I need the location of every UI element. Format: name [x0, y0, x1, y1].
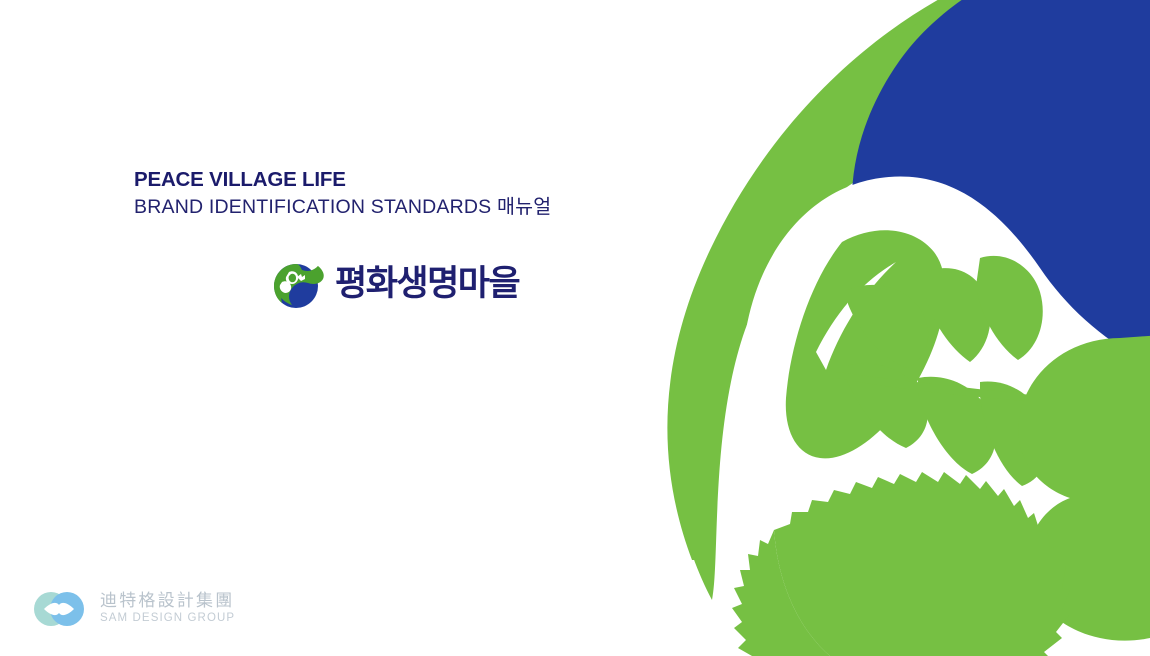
brand-wordmark: 평화생명마을 [335, 267, 519, 302]
page-subtitle: BRAND IDENTIFICATION STANDARDS 매뉴얼 [134, 196, 551, 220]
hero-symbol-svg [650, 0, 1150, 656]
hero-graphic [650, 0, 1150, 656]
green-swoosh [667, 0, 1150, 560]
oval-leaf [786, 230, 945, 458]
serrated-leaf [732, 472, 1070, 656]
white-interior [735, 177, 1150, 618]
sam-design-group-mark-icon [30, 588, 88, 630]
page-title: PEACE VILLAGE LIFE [134, 168, 551, 192]
agency-name-en: SAM DESIGN GROUP [100, 612, 235, 626]
agency-name-cn: 迪特格設計集團 [100, 592, 235, 612]
peace-village-life-symbol-icon [268, 258, 326, 310]
agency-text: 迪特格設計集團 SAM DESIGN GROUP [100, 592, 235, 626]
slide-canvas: PEACE VILLAGE LIFE BRAND IDENTIFICATION … [0, 0, 1150, 656]
green-crescent-body [671, 0, 1150, 600]
round-berry [1018, 330, 1150, 641]
compound-leaf [836, 256, 1058, 486]
blue-circle [852, 0, 1150, 385]
title-block: PEACE VILLAGE LIFE BRAND IDENTIFICATION … [134, 168, 551, 220]
brand-lockup: 평화생명마을 [268, 258, 519, 310]
green-inner-arc [830, 240, 1150, 441]
oval-leaf-notch [816, 262, 896, 370]
agency-credit: 迪特格設計集團 SAM DESIGN GROUP [30, 588, 235, 630]
